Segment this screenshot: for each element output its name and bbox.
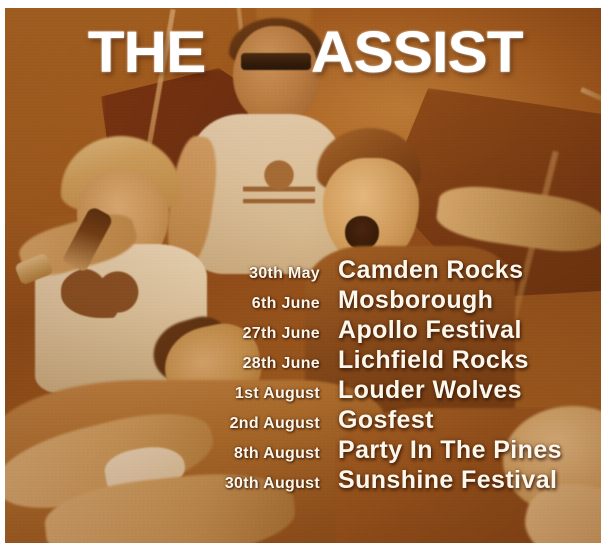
tour-date-row: 2nd AugustGosfest <box>0 406 609 436</box>
tour-venue: Sunshine Festival <box>338 466 557 495</box>
tour-date-row: 6th JuneMosborough <box>0 286 609 316</box>
tour-date-row: 30th AugustSunshine Festival <box>0 466 609 496</box>
tour-date-row: 30th MayCamden Rocks <box>0 256 609 286</box>
tour-date-row: 1st AugustLouder Wolves <box>0 376 609 406</box>
tour-date: 8th August <box>0 445 320 463</box>
tour-date: 30th May <box>0 265 320 283</box>
title-word-the: THE <box>88 24 206 82</box>
tour-date: 6th June <box>0 295 320 313</box>
title-word-assist: ASSIST <box>311 24 523 82</box>
tour-venue: Gosfest <box>338 406 434 435</box>
tour-venue: Apollo Festival <box>338 316 522 345</box>
tour-date: 1st August <box>0 385 320 403</box>
tour-venue: Lichfield Rocks <box>338 346 529 375</box>
tour-date-row: 27th JuneApollo Festival <box>0 316 609 346</box>
tour-date-row: 8th AugustParty In The Pines <box>0 436 609 466</box>
tour-venue: Party In The Pines <box>338 436 562 465</box>
band-tour-poster: THEASSIST 30th MayCamden Rocks6th JuneMo… <box>0 0 609 550</box>
tour-date: 28th June <box>0 355 320 373</box>
tour-date-row: 28th JuneLichfield Rocks <box>0 346 609 376</box>
tour-venue: Camden Rocks <box>338 256 523 285</box>
tour-date: 30th August <box>0 475 320 493</box>
band-name-title: THEASSIST <box>0 24 609 82</box>
tshirt-graphic-print <box>243 154 315 216</box>
tour-venue: Louder Wolves <box>338 376 522 405</box>
tour-venue: Mosborough <box>338 286 493 315</box>
tour-date: 27th June <box>0 325 320 343</box>
tour-date-listing: 30th MayCamden Rocks6th JuneMosborough27… <box>0 256 609 496</box>
tour-date: 2nd August <box>0 415 320 433</box>
person-shouting-mouth <box>345 216 379 250</box>
